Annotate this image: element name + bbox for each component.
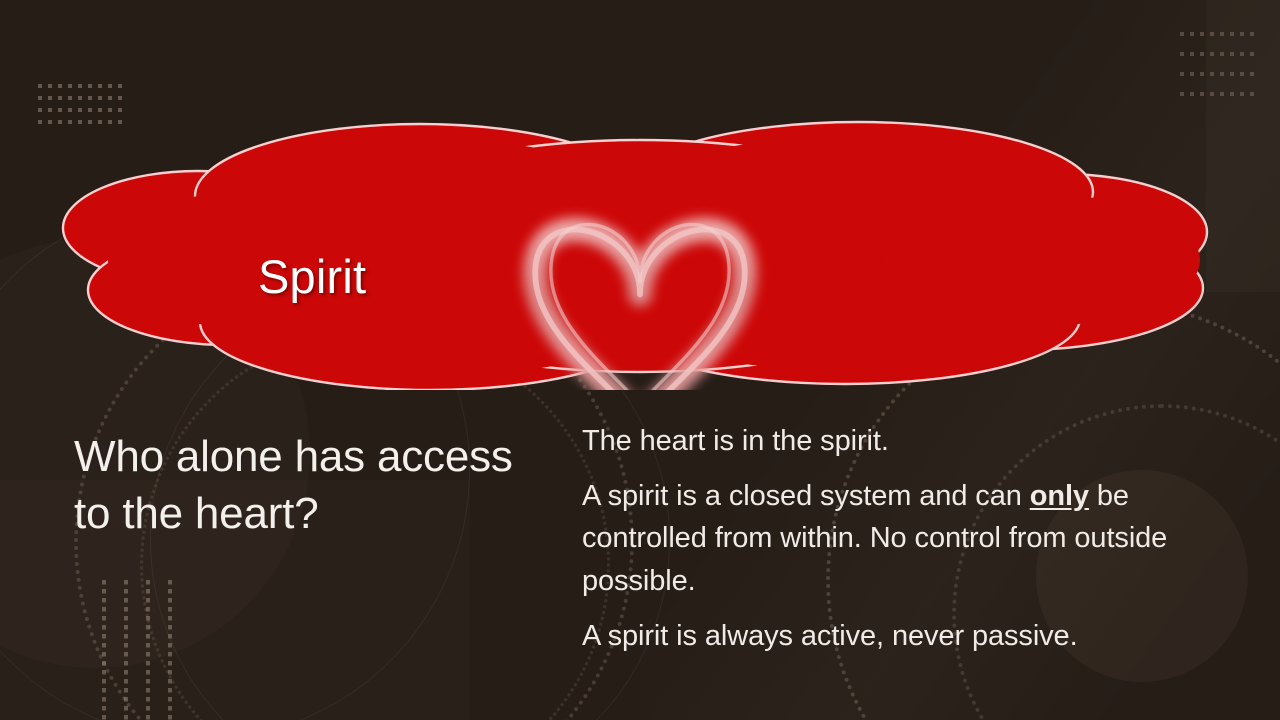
question-heading: Who alone has access to the heart? — [74, 428, 554, 542]
body-paragraph: A spirit is always active, never passive… — [582, 615, 1182, 658]
body-text-block: The heart is in the spirit. A spirit is … — [582, 420, 1182, 657]
cloud-banner-graphic — [0, 60, 1280, 390]
body-paragraph: The heart is in the spirit. — [582, 420, 1182, 463]
body-paragraph: A spirit is a closed system and can only… — [582, 475, 1182, 603]
cloud-banner: Spirit — [0, 60, 1280, 390]
paragraph-text-before: A spirit is a closed system and can — [582, 480, 1030, 512]
paragraph-text-before: The heart is in the spirit. — [582, 425, 889, 457]
dotted-columns-bottom-left-icon — [102, 580, 172, 720]
slide-canvas: Spirit Who alone has access to the heart… — [0, 0, 1280, 720]
paragraph-emphasis: only — [1030, 480, 1089, 512]
paragraph-text-before: A spirit is always active, never passive… — [582, 620, 1078, 652]
banner-title: Spirit — [258, 249, 366, 304]
